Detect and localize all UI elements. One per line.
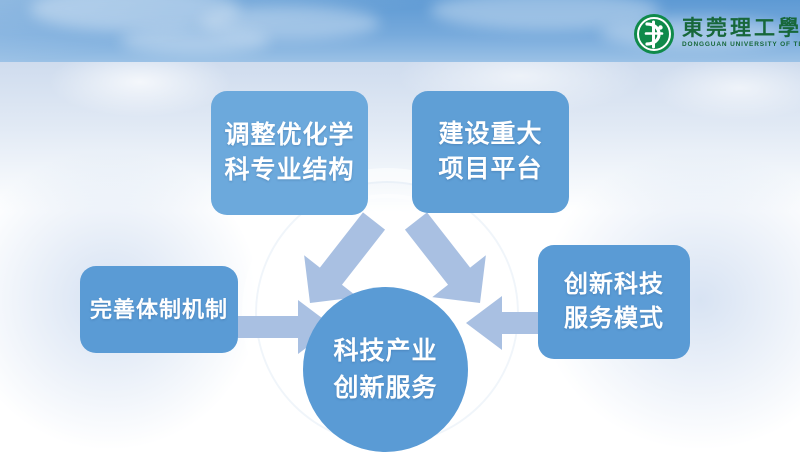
- node-line: 科技产业: [333, 333, 437, 369]
- node-center-tech-industry-innovation-service[interactable]: 科技产业 创新服务: [303, 287, 468, 452]
- university-seal-icon: [634, 14, 674, 54]
- university-logo: 東莞理工學院 DONGGUAN UNIVERSITY OF TECHNOLOGY: [634, 12, 800, 56]
- university-name-block: 東莞理工學院 DONGGUAN UNIVERSITY OF TECHNOLOGY: [682, 18, 800, 50]
- node-line: 项目平台: [438, 152, 542, 188]
- node-line: 创新服务: [333, 370, 437, 406]
- node-line: 调整优化学: [224, 118, 354, 154]
- node-improve-system-mechanism[interactable]: 完善体制机制: [80, 266, 238, 353]
- slide-canvas: DONGGUAN 调整优化学 科专业结构 建设重大: [0, 0, 800, 473]
- node-innovate-service-model[interactable]: 创新科技 服务模式: [538, 245, 690, 359]
- university-name-cn: 東莞理工學院: [682, 18, 800, 40]
- node-adjust-discipline-structure[interactable]: 调整优化学 科专业结构: [211, 91, 368, 215]
- node-line: 建设重大: [438, 117, 542, 153]
- node-line: 服务模式: [564, 302, 664, 336]
- haze-clouds: [0, 62, 800, 152]
- node-line: 完善体制机制: [90, 294, 228, 325]
- university-name-en: DONGGUAN UNIVERSITY OF TECHNOLOGY: [682, 40, 800, 50]
- node-line: 创新科技: [564, 268, 664, 302]
- node-build-major-platform[interactable]: 建设重大 项目平台: [412, 91, 569, 213]
- node-line: 科专业结构: [224, 153, 354, 189]
